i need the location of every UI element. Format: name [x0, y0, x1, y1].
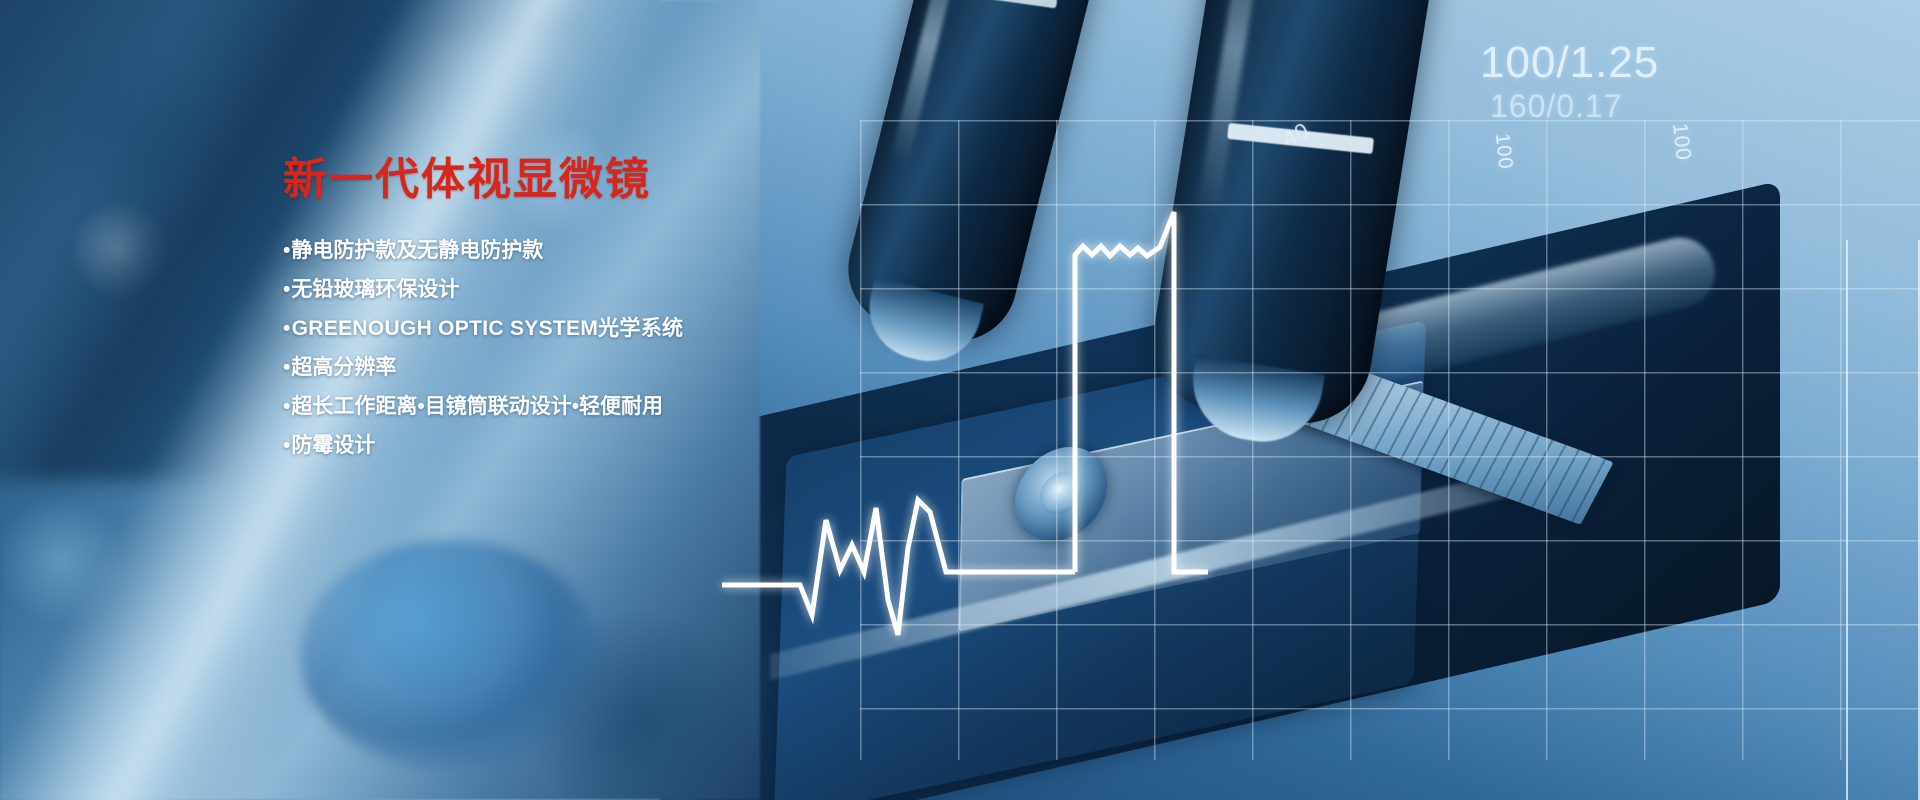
list-item-label: 防霉设计: [291, 434, 375, 457]
lens-label-100-1-25: 100/1.25: [1480, 38, 1659, 88]
lens-left-highlight: [890, 0, 968, 165]
objective-lens-left: [836, 0, 1115, 354]
list-item: •GREENOUGH OPTIC SYSTEM光学系统: [283, 318, 843, 339]
bullet-marker-icon: •: [283, 317, 291, 340]
microscope-photo: [660, 0, 1920, 800]
lens-label-160-0-17: 160/0.17: [1490, 88, 1623, 125]
lens-label-100-right: 100: [1667, 122, 1695, 162]
copy-block: 新一代体视显微镜 •静电防护款及无静电防护款 •无铅玻璃环保设计 •GREENO…: [283, 155, 843, 474]
list-item-label: 超长工作距离•目镜筒联动设计•轻便耐用: [291, 395, 663, 418]
bullet-marker-icon: •: [283, 239, 290, 262]
list-item: •防霉设计: [283, 435, 843, 456]
bullet-marker-icon: •: [283, 356, 290, 379]
lens-left-ring-band: [937, 0, 1057, 8]
product-banner: 100/1.25 160/0.17 40 100 100 新一代体视显微镜 •静…: [0, 0, 1920, 800]
bullet-marker-icon: •: [283, 395, 290, 418]
bullet-marker-icon: •: [283, 434, 290, 457]
list-item-label: 无铅玻璃环保设计: [291, 278, 459, 301]
list-item-label: 静电防护款及无静电防护款: [291, 239, 543, 262]
list-item: •静电防护款及无静电防护款: [283, 240, 843, 261]
bullet-marker-icon: •: [283, 278, 290, 301]
list-item-label: 超高分辨率: [291, 356, 396, 379]
list-item-label: GREENOUGH OPTIC SYSTEM光学系统: [292, 317, 684, 340]
page-title: 新一代体视显微镜: [283, 155, 843, 206]
list-item: •无铅玻璃环保设计: [283, 279, 843, 300]
feature-list: •静电防护款及无静电防护款 •无铅玻璃环保设计 •GREENOUGH OPTIC…: [283, 240, 843, 456]
list-item: •超长工作距离•目镜筒联动设计•轻便耐用: [283, 396, 843, 417]
lens-right-highlight: [1196, 0, 1271, 219]
list-item: •超高分辨率: [283, 357, 843, 378]
lens-left-front-element: [858, 277, 984, 372]
lens-label-100-left: 100: [1490, 132, 1517, 171]
